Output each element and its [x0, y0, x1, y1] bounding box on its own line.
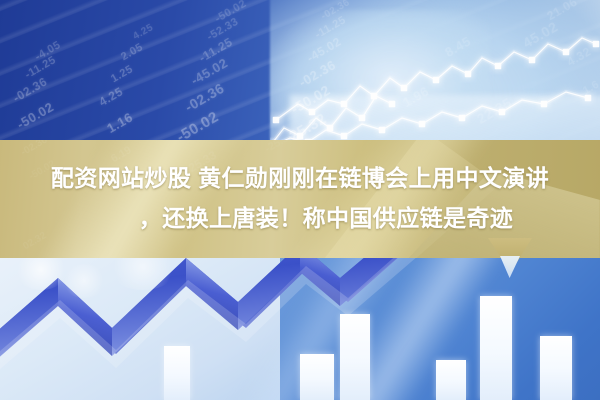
bar	[540, 336, 572, 400]
glowing-line-chart	[270, 0, 600, 146]
line-node-marker	[401, 85, 408, 92]
bar	[436, 360, 466, 400]
ticker-number: -50.02	[14, 99, 56, 132]
line-node-marker	[495, 63, 502, 70]
headline-line-2: ，还换上唐装！称中国供应链是奇迹	[0, 198, 600, 238]
ticker-number: 1.16	[104, 109, 135, 136]
line-node-marker	[297, 133, 304, 140]
line-node-marker	[273, 117, 280, 124]
line-node-marker	[419, 121, 426, 128]
bar	[300, 354, 334, 400]
lower-background	[0, 258, 600, 400]
line-node-marker	[433, 77, 440, 84]
banner-image: -50.02-02.36-11.25-4.051.164.251.252.054…	[0, 0, 600, 400]
line-node-marker	[459, 115, 466, 122]
gold-ticker-number: -02.36	[19, 140, 49, 158]
line-node-marker	[309, 109, 316, 116]
line-node-marker	[465, 71, 472, 78]
ticker-number: 4.25	[97, 84, 126, 109]
line-node-marker	[379, 127, 386, 134]
line-node-marker	[327, 125, 334, 132]
gold-ticker-number: -25.32	[263, 140, 296, 155]
ticker-number: 1.25	[109, 63, 135, 85]
sky-background: -50.02-02.36-11.25-4.051.164.251.252.054…	[0, 0, 600, 146]
line-node-marker	[593, 41, 600, 48]
ticker-number: 2.05	[119, 41, 145, 63]
headline-line-1: 配资网站炒股 黄仁勋刚刚在链博会上用中文演讲	[0, 158, 600, 198]
line-node-marker	[585, 95, 592, 102]
line-node-marker	[563, 49, 570, 56]
line-node-marker	[341, 133, 348, 140]
line-node-marker	[541, 101, 548, 108]
ticker-number: -02.36	[182, 80, 227, 115]
line-node-marker	[389, 101, 396, 108]
line-node-marker	[529, 57, 536, 64]
bar	[340, 314, 370, 400]
glow-spot-2	[62, 264, 106, 298]
headline-overlay: 配资网站炒股 黄仁勋刚刚在链博会上用中文演讲 ，还换上唐装！称中国供应链是奇迹	[0, 158, 600, 238]
bar	[164, 346, 190, 400]
bar	[480, 296, 512, 400]
line-node-marker	[359, 115, 366, 122]
ticker-number: 4.25	[131, 22, 155, 42]
line-node-marker	[499, 109, 506, 116]
